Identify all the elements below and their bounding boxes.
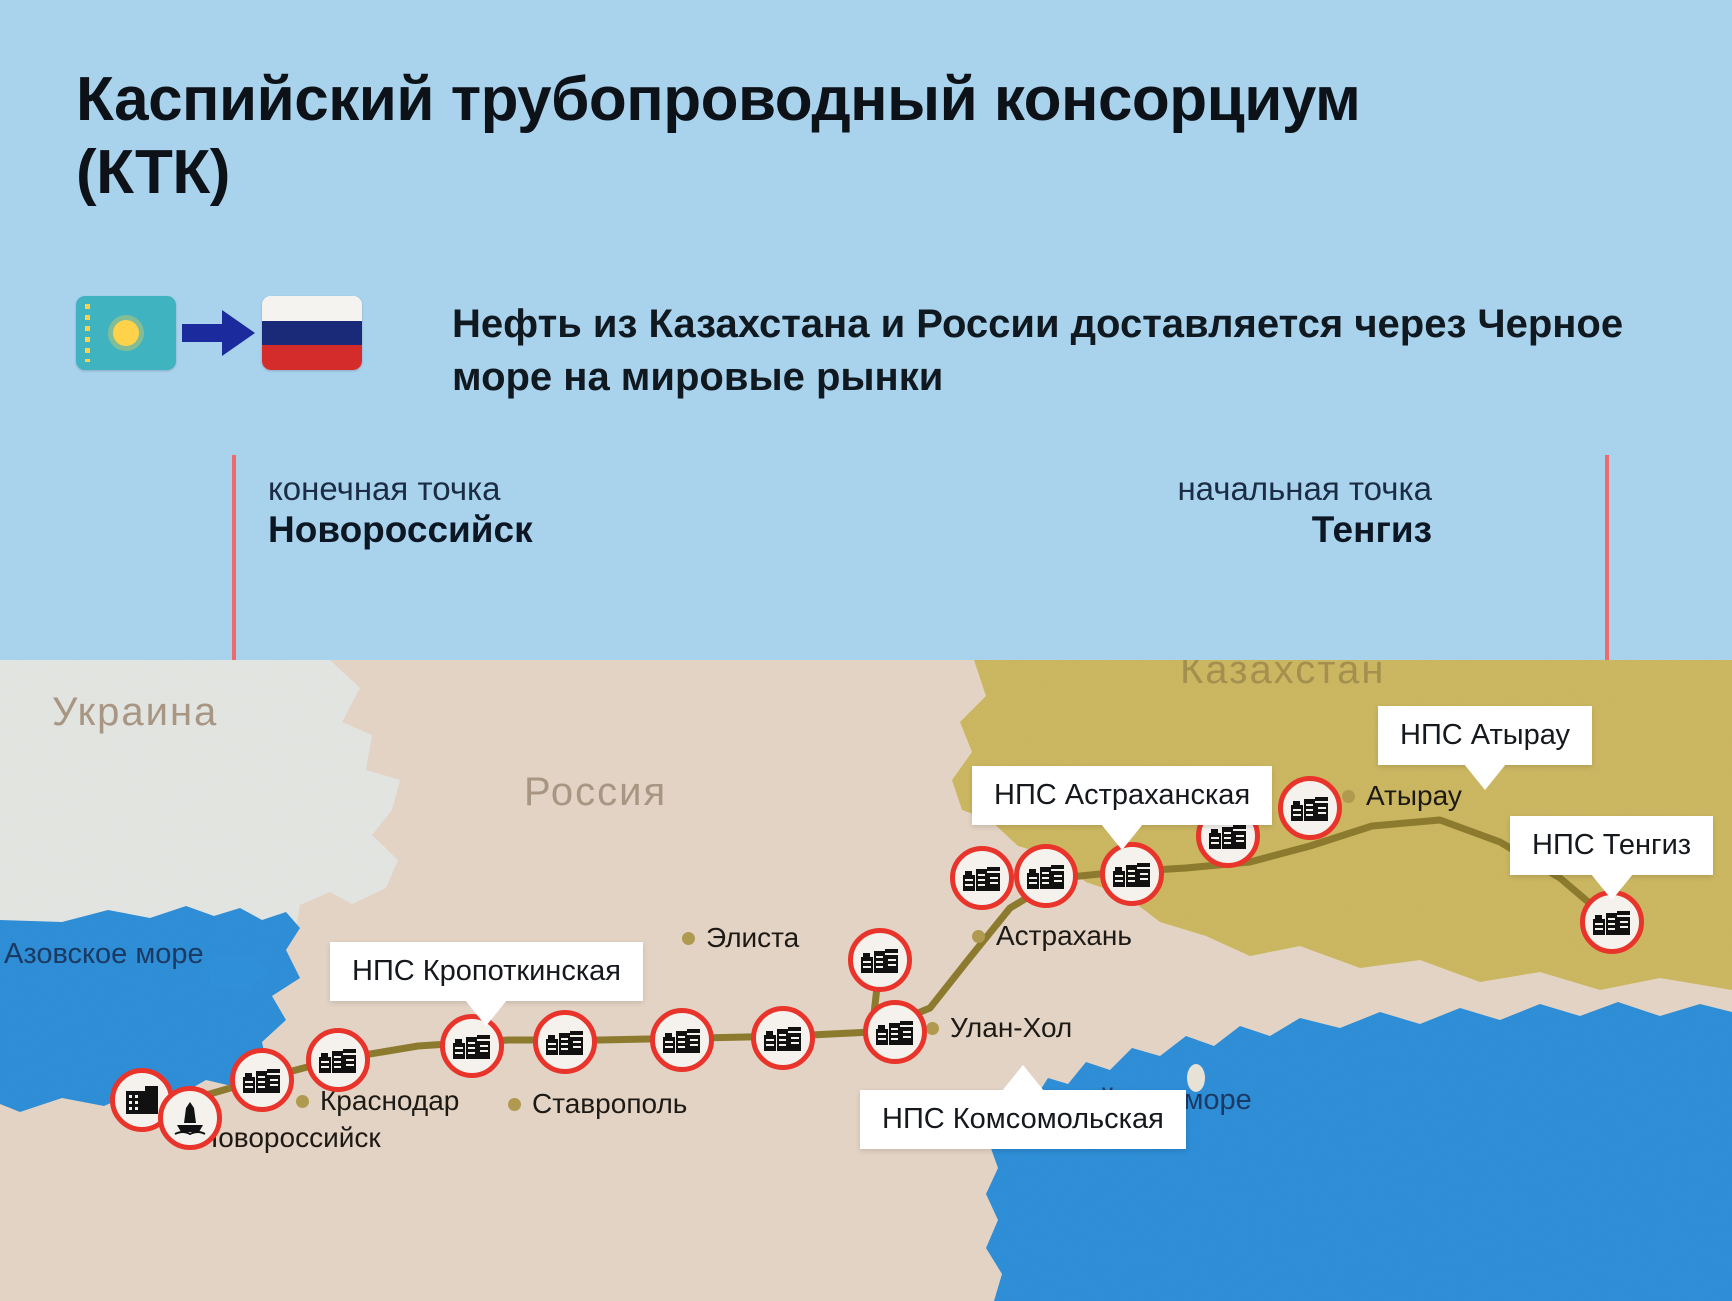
station-stn-1[interactable] <box>230 1048 294 1112</box>
city-stavropol: Ставрополь <box>508 1088 687 1120</box>
station-stn-9[interactable] <box>950 846 1014 910</box>
endpoint-right-name: Тенгиз <box>1177 508 1432 552</box>
kz-ornament <box>85 304 90 362</box>
callout-label: НПС Атырау <box>1400 719 1570 751</box>
map-panel: Украина Россия Казахстан Азовское море К… <box>0 660 1732 1301</box>
station-stn-6[interactable] <box>751 1006 815 1070</box>
callout-pointer-icon <box>1591 874 1633 900</box>
callout-pointer-icon <box>465 1000 507 1026</box>
city-label: Улан-Хол <box>950 1012 1072 1044</box>
callout-pointer-icon <box>1101 824 1143 850</box>
callout-astrahanskaya[interactable]: НПС Астраханская <box>972 766 1272 825</box>
flag-route-indicator <box>76 296 362 370</box>
right-arrow-icon <box>176 308 262 358</box>
station-stn-11[interactable] <box>1100 842 1164 906</box>
endpoint-novorossiysk: конечная точка Новороссийск <box>268 470 533 552</box>
callout-komsomolskaya[interactable]: НПС Комсомольская <box>860 1090 1186 1149</box>
city-label: Новороссийск <box>198 1122 381 1154</box>
callout-tengiz[interactable]: НПС Тенгиз <box>1510 816 1713 875</box>
station-stn-2[interactable] <box>306 1028 370 1092</box>
callout-pointer-icon <box>1464 764 1506 790</box>
endpoint-left-name: Новороссийск <box>268 508 533 552</box>
station-atyrau[interactable] <box>1278 776 1342 840</box>
page-title: Каспийский трубопроводный консорциум (КТ… <box>76 64 1496 209</box>
city-novorossiysk: Новороссийск <box>198 1122 381 1154</box>
station-komsomolskaya[interactable] <box>863 1000 927 1064</box>
infographic-root: Каспийский трубопроводный консорциум (КТ… <box>0 0 1732 1301</box>
header-panel: Каспийский трубопроводный консорциум (КТ… <box>0 0 1732 660</box>
endpoint-left-kicker: конечная точка <box>268 470 533 508</box>
city-label: Атырау <box>1366 780 1462 812</box>
callout-pointer-icon <box>1002 1065 1044 1091</box>
city-label: Астрахань <box>996 920 1132 952</box>
city-ulan-khol: Улан-Хол <box>926 1012 1072 1044</box>
callout-kropotkinskaya[interactable]: НПС Кропоткинская <box>330 942 643 1001</box>
city-dot-icon <box>926 1022 939 1035</box>
city-dot-icon <box>682 932 695 945</box>
callout-label: НПС Кропоткинская <box>352 955 621 987</box>
city-astrakhan: Астрахань <box>972 920 1132 952</box>
city-krasnodar: Краснодар <box>296 1085 459 1117</box>
city-dot-icon <box>972 930 985 943</box>
city-label: Элиста <box>706 922 799 954</box>
station-astrahanskaya[interactable] <box>1014 844 1078 908</box>
station-novorossiysk-port[interactable] <box>158 1086 222 1150</box>
city-atyrau: Атырау <box>1342 780 1462 812</box>
station-stn-4[interactable] <box>533 1010 597 1074</box>
russia-flag-icon <box>262 296 362 370</box>
callout-atyrau[interactable]: НПС Атырау <box>1378 706 1592 765</box>
callout-label: НПС Комсомольская <box>882 1103 1164 1135</box>
city-dot-icon <box>1342 790 1355 803</box>
city-elista: Элиста <box>682 922 799 954</box>
city-dot-icon <box>296 1095 309 1108</box>
city-dot-icon <box>508 1098 521 1111</box>
kazakhstan-flag-icon <box>76 296 176 370</box>
station-stn-7[interactable] <box>848 928 912 992</box>
callout-label: НПС Тенгиз <box>1532 829 1691 861</box>
endpoint-tengiz: начальная точка Тенгиз <box>1177 470 1432 552</box>
kz-sun-icon <box>113 320 139 346</box>
endpoint-right-kicker: начальная точка <box>1177 470 1432 508</box>
header-subtitle: Нефть из Казахстана и России доставляетс… <box>452 298 1642 404</box>
station-stn-5[interactable] <box>650 1008 714 1072</box>
city-label: Ставрополь <box>532 1088 687 1120</box>
callout-label: НПС Астраханская <box>994 779 1250 811</box>
